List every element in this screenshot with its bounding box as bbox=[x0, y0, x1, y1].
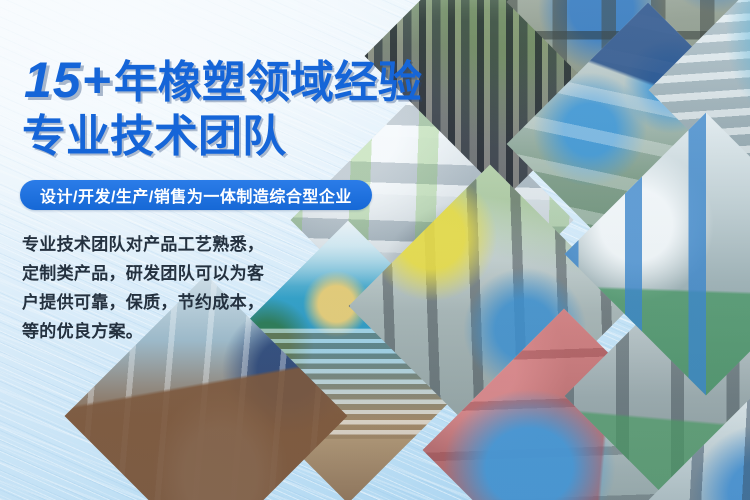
headline-years-number: 15+ bbox=[24, 52, 112, 108]
promo-banner: 15+年橡塑领域经验 专业技术团队 设计/开发/生产/销售为一体制造综合型企业 … bbox=[0, 0, 750, 500]
description-paragraph: 专业技术团队对产品工艺熟悉，定制类产品，研发团队可以为客户提供可靠，保质，节约成… bbox=[22, 230, 272, 346]
headline-line-1-text: 年橡塑领域经验 bbox=[114, 58, 422, 107]
collage-tile-assembly-line-workers bbox=[507, 3, 750, 286]
collage-tile-workbench-line bbox=[565, 113, 750, 396]
collage-tile-microscope-station bbox=[649, 359, 750, 500]
collage-tile-lobby-entrance bbox=[649, 0, 750, 231]
headline-line-2: 专业技术团队 bbox=[22, 112, 286, 162]
collage-tile-injection-molding-machines bbox=[507, 0, 750, 143]
banner-text-block: 15+年橡塑领域经验 专业技术团队 设计/开发/生产/销售为一体制造综合型企业 … bbox=[0, 0, 470, 500]
headline-line-1: 15+年橡塑领域经验 bbox=[24, 55, 422, 108]
capability-badge: 设计/开发/生产/销售为一体制造综合型企业 bbox=[20, 180, 372, 210]
collage-tile-press-machine bbox=[565, 255, 750, 500]
